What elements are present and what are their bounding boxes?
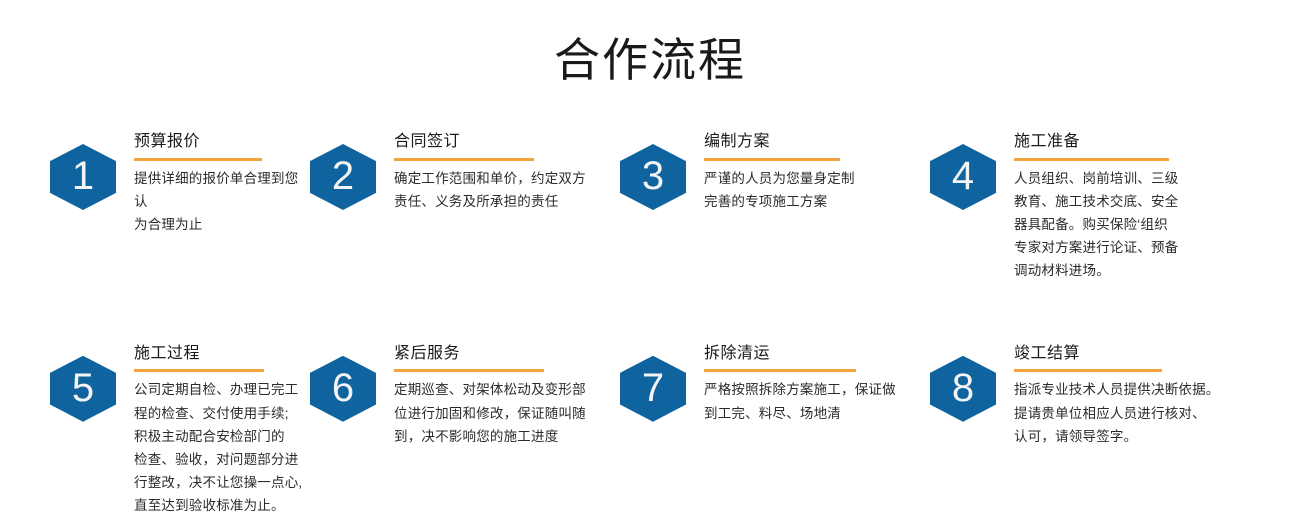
step-text-block: 拆除清运 严格按照拆除方案施工，保证做 到工完、料尽、场地清 <box>704 343 915 425</box>
process-step-2[interactable]: 2 合同签订 确定工作范围和单价，约定双方 责任、义务及所承担的责任 <box>305 131 610 213</box>
process-step-5[interactable]: 5 施工过程 公司定期自检、办理已完工 程的检查、交付使用手续; 积极主动配合安… <box>0 343 305 518</box>
process-step-7[interactable]: 7 拆除清运 严格按照拆除方案施工，保证做 到工完、料尽、场地清 <box>610 343 915 425</box>
step-title: 预算报价 <box>134 131 305 156</box>
hexagon-badge-3: 3 <box>620 144 686 210</box>
step-number: 8 <box>930 356 996 422</box>
step-description: 严谨的人员为您量身定制 完善的专项施工方案 <box>704 167 914 213</box>
step-text-block: 编制方案 严谨的人员为您量身定制 完善的专项施工方案 <box>704 131 915 213</box>
step-description: 指派专业技术人员提供决断依据。 提请贵单位相应人员进行核对、 认可，请领导签字。 <box>1014 378 1229 448</box>
hexagon-badge-4: 4 <box>930 144 996 210</box>
process-step-4[interactable]: 4 施工准备 人员组织、岗前培训、三级 教育、施工技术交底、安全 器具配备。购买… <box>915 131 1245 283</box>
step-description: 严格按照拆除方案施工，保证做 到工完、料尽、场地清 <box>704 378 914 424</box>
step-title-underline <box>1014 158 1169 161</box>
hexagon-badge-7: 7 <box>620 356 686 422</box>
process-row-bottom: 5 施工过程 公司定期自检、办理已完工 程的检查、交付使用手续; 积极主动配合安… <box>0 343 1300 518</box>
step-title-underline <box>134 158 262 161</box>
step-description: 人员组织、岗前培训、三级 教育、施工技术交底、安全 器具配备。购买保险‘组织 专… <box>1014 167 1182 283</box>
step-number: 7 <box>620 356 686 422</box>
step-text-block: 施工过程 公司定期自检、办理已完工 程的检查、交付使用手续; 积极主动配合安检部… <box>134 343 305 518</box>
step-text-block: 合同签订 确定工作范围和单价，约定双方 责任、义务及所承担的责任 <box>394 131 610 213</box>
hexagon-badge-5: 5 <box>50 356 116 422</box>
step-description: 公司定期自检、办理已完工 程的检查、交付使用手续; 积极主动配合安检部门的 检查… <box>134 378 305 517</box>
step-number: 4 <box>930 144 996 210</box>
step-title-underline <box>394 369 544 372</box>
process-step-6[interactable]: 6 紧后服务 定期巡查、对架体松动及变形部 位进行加固和修改，保证随叫随 到，决… <box>305 343 610 448</box>
step-text-block: 预算报价 提供详细的报价单合理到您认 为合理为止 <box>134 131 305 236</box>
step-text-block: 施工准备 人员组织、岗前培训、三级 教育、施工技术交底、安全 器具配备。购买保险… <box>1014 131 1245 283</box>
step-title: 拆除清运 <box>704 343 915 368</box>
step-text-block: 竣工结算 指派专业技术人员提供决断依据。 提请贵单位相应人员进行核对、 认可，请… <box>1014 343 1245 448</box>
step-title-underline <box>704 158 840 161</box>
hexagon-badge-8: 8 <box>930 356 996 422</box>
step-title-underline <box>1014 369 1162 372</box>
step-title: 施工准备 <box>1014 131 1245 156</box>
hexagon-badge-6: 6 <box>310 356 376 422</box>
step-number: 2 <box>310 144 376 210</box>
process-step-8[interactable]: 8 竣工结算 指派专业技术人员提供决断依据。 提请贵单位相应人员进行核对、 认可… <box>915 343 1245 448</box>
step-description: 确定工作范围和单价，约定双方 责任、义务及所承担的责任 <box>394 167 604 213</box>
step-title: 施工过程 <box>134 343 305 368</box>
step-description: 定期巡查、对架体松动及变形部 位进行加固和修改，保证随叫随 到，决不影响您的施工… <box>394 378 604 448</box>
step-number: 6 <box>310 356 376 422</box>
step-description: 提供详细的报价单合理到您认 为合理为止 <box>134 167 305 237</box>
hexagon-badge-1: 1 <box>50 144 116 210</box>
step-text-block: 紧后服务 定期巡查、对架体松动及变形部 位进行加固和修改，保证随叫随 到，决不影… <box>394 343 610 448</box>
process-steps-grid: 1 预算报价 提供详细的报价单合理到您认 为合理为止 2 合同签订 确定工作范围… <box>0 131 1300 518</box>
hexagon-badge-2: 2 <box>310 144 376 210</box>
step-title-underline <box>134 369 264 372</box>
step-title: 编制方案 <box>704 131 915 156</box>
process-row-top: 1 预算报价 提供详细的报价单合理到您认 为合理为止 2 合同签订 确定工作范围… <box>0 131 1300 283</box>
step-number: 1 <box>50 144 116 210</box>
step-title: 合同签订 <box>394 131 610 156</box>
step-title-underline <box>394 158 534 161</box>
process-step-1[interactable]: 1 预算报价 提供详细的报价单合理到您认 为合理为止 <box>0 131 305 236</box>
step-title: 紧后服务 <box>394 343 610 368</box>
step-title-underline <box>704 369 856 372</box>
step-number: 3 <box>620 144 686 210</box>
step-number: 5 <box>50 356 116 422</box>
process-step-3[interactable]: 3 编制方案 严谨的人员为您量身定制 完善的专项施工方案 <box>610 131 915 213</box>
step-title: 竣工结算 <box>1014 343 1245 368</box>
page-title: 合作流程 <box>0 0 1300 90</box>
